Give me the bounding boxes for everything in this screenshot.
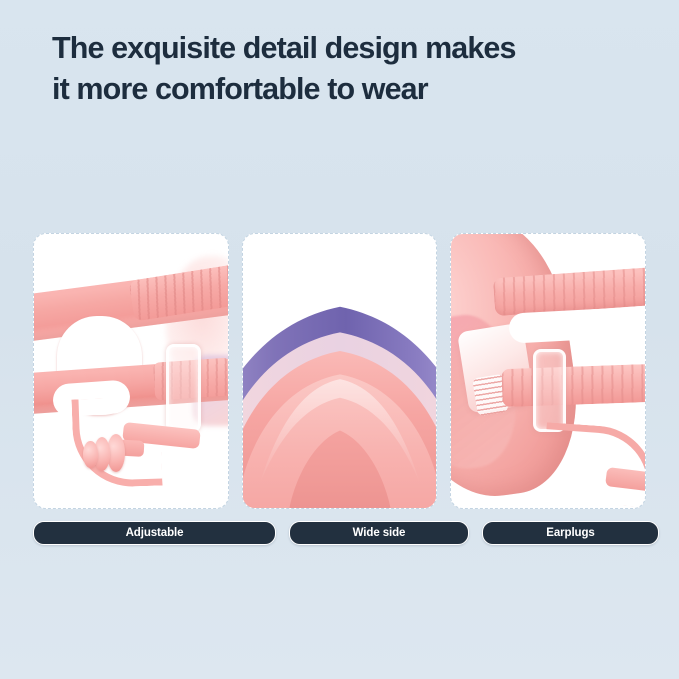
product-photo-wide-side [243, 234, 437, 508]
page-title: The exquisite detail design makes it mor… [52, 28, 652, 109]
feature-card-adjustable[interactable] [33, 233, 229, 509]
earplug-flange-small [83, 441, 98, 468]
upper-strap-slot [509, 308, 611, 343]
label-cell-earplugs: Earplugs [482, 521, 659, 544]
lower-strap-shape [501, 362, 645, 407]
product-photo-earplugs [451, 234, 645, 508]
product-detail-panel: The exquisite detail design makes it mor… [0, 0, 679, 679]
feature-label-row: Adjustable Wide side Earplugs [33, 521, 646, 544]
feature-card-wide-side[interactable] [242, 233, 438, 509]
feature-card-earplugs[interactable] [450, 233, 646, 509]
feature-card-row [33, 233, 646, 509]
feature-label-adjustable[interactable]: Adjustable [33, 521, 276, 545]
feature-label-wide-side[interactable]: Wide side [289, 521, 469, 545]
feature-label-earplugs[interactable]: Earplugs [482, 521, 659, 545]
strap-buckle-shape [166, 344, 201, 432]
label-cell-adjustable: Adjustable [33, 521, 276, 544]
label-cell-wide-side: Wide side [289, 521, 469, 544]
earplug-cord-loop [542, 422, 645, 508]
nose-bridge-arch [243, 267, 437, 508]
strap-buckle-shape [533, 349, 566, 432]
product-photo-adjustable [34, 234, 228, 508]
